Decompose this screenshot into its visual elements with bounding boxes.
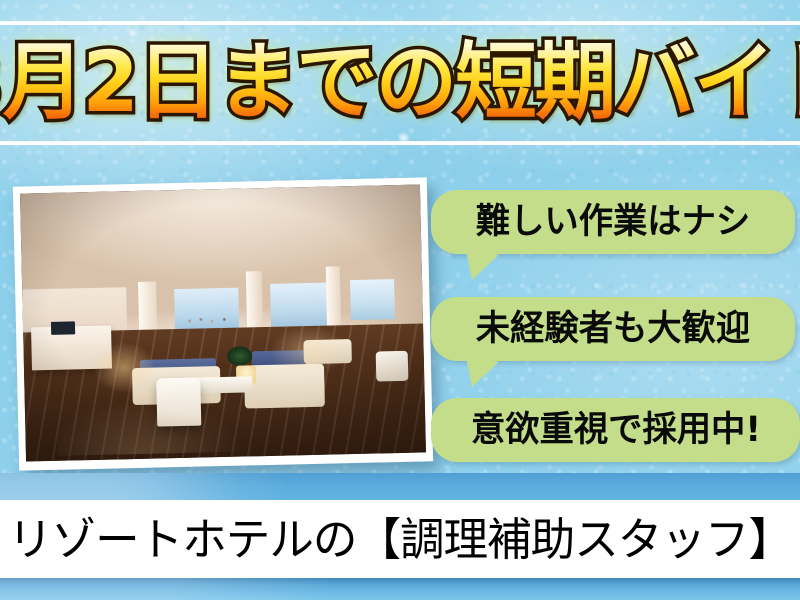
headline-container: 3月2日までの短期バイト 3月2日までの短期バイト <box>0 26 800 138</box>
subtitle-band: リゾートホテルの【調理補助スタッフ】 <box>0 500 800 578</box>
divider-line-bottom <box>0 141 800 145</box>
bottom-blue-bar <box>0 578 800 600</box>
benefit-bubble-2-label: 未経験者も大歓迎 <box>476 312 750 347</box>
benefit-bubble-1: 難しい作業はナシ <box>431 190 795 254</box>
headline: 3月2日までの短期バイト 3月2日までの短期バイト <box>0 40 800 124</box>
headline-fill-layer: 3月2日までの短期バイト <box>0 33 800 131</box>
hotel-lobby-photo <box>20 184 426 461</box>
job-ad-banner: 3月2日までの短期バイト 3月2日までの短期バイト <box>0 0 800 600</box>
benefit-bubble-1-label: 難しい作業はナシ <box>476 205 750 240</box>
job-title-text: リゾートホテルの【調理補助スタッフ】 <box>8 517 792 562</box>
benefit-bubble-2: 未経験者も大歓迎 <box>431 297 795 361</box>
photo-vignette <box>20 184 426 461</box>
blue-transition-strip <box>0 473 800 500</box>
divider-line-top <box>0 21 800 25</box>
benefit-bubble-3-label: 意欲重視で採用中! <box>470 413 760 448</box>
benefit-bubble-3: 意欲重視で採用中! <box>431 398 800 462</box>
hotel-lobby-photo-card <box>13 177 433 470</box>
